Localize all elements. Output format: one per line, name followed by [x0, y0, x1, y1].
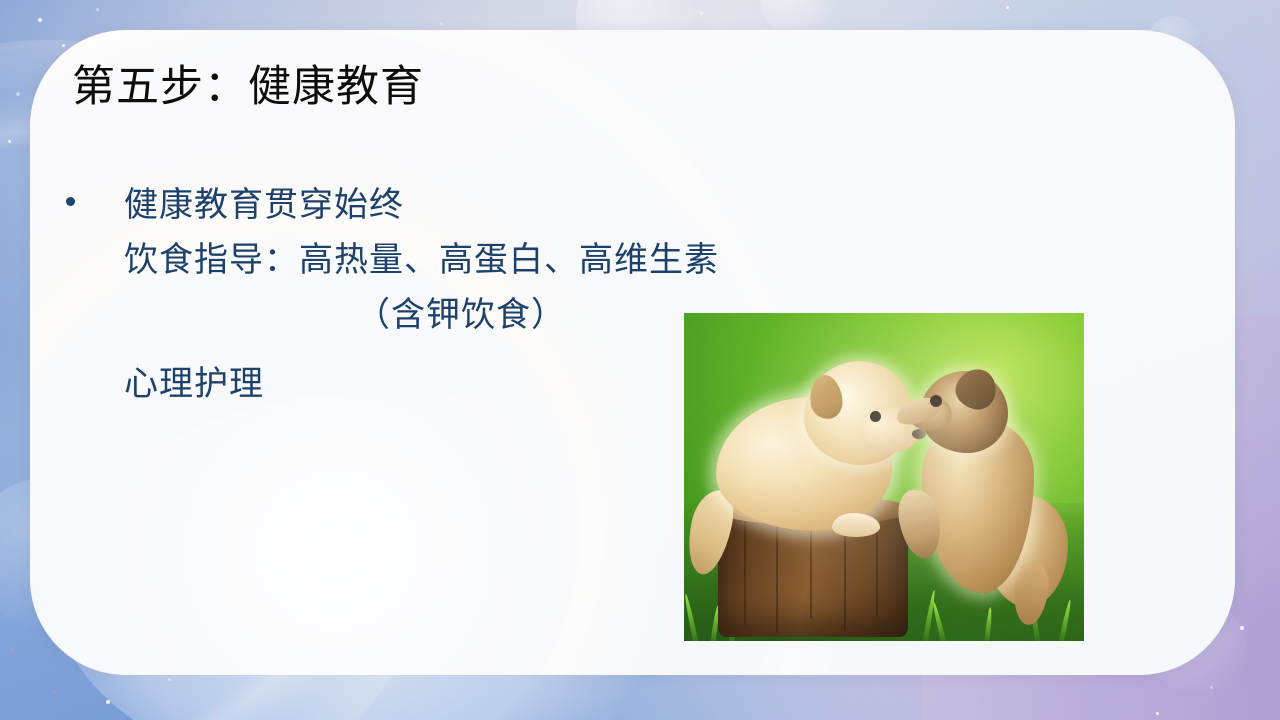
slide-title: 第五步：健康教育 — [72, 62, 424, 114]
bullet-line: 健康教育贯穿始终 — [124, 178, 1066, 233]
card-sheen-decoration — [54, 391, 729, 720]
stump-bark-line — [844, 521, 846, 631]
bullet-dot-icon — [66, 197, 75, 206]
tree-stump — [718, 507, 908, 637]
stump-bark-line — [810, 521, 812, 619]
stump-bark-line — [744, 521, 746, 625]
stump-bark-line — [776, 521, 778, 633]
stump-bark-line — [876, 521, 878, 617]
presentation-slide: 第五步：健康教育 健康教育贯穿始终 饮食指导：高热量、高蛋白、高维生素 （含钾饮… — [0, 0, 1280, 720]
two-puppies-on-tree-stump-photo — [684, 313, 1084, 641]
bullet-line: 饮食指导：高热量、高蛋白、高维生素 — [124, 233, 1066, 288]
